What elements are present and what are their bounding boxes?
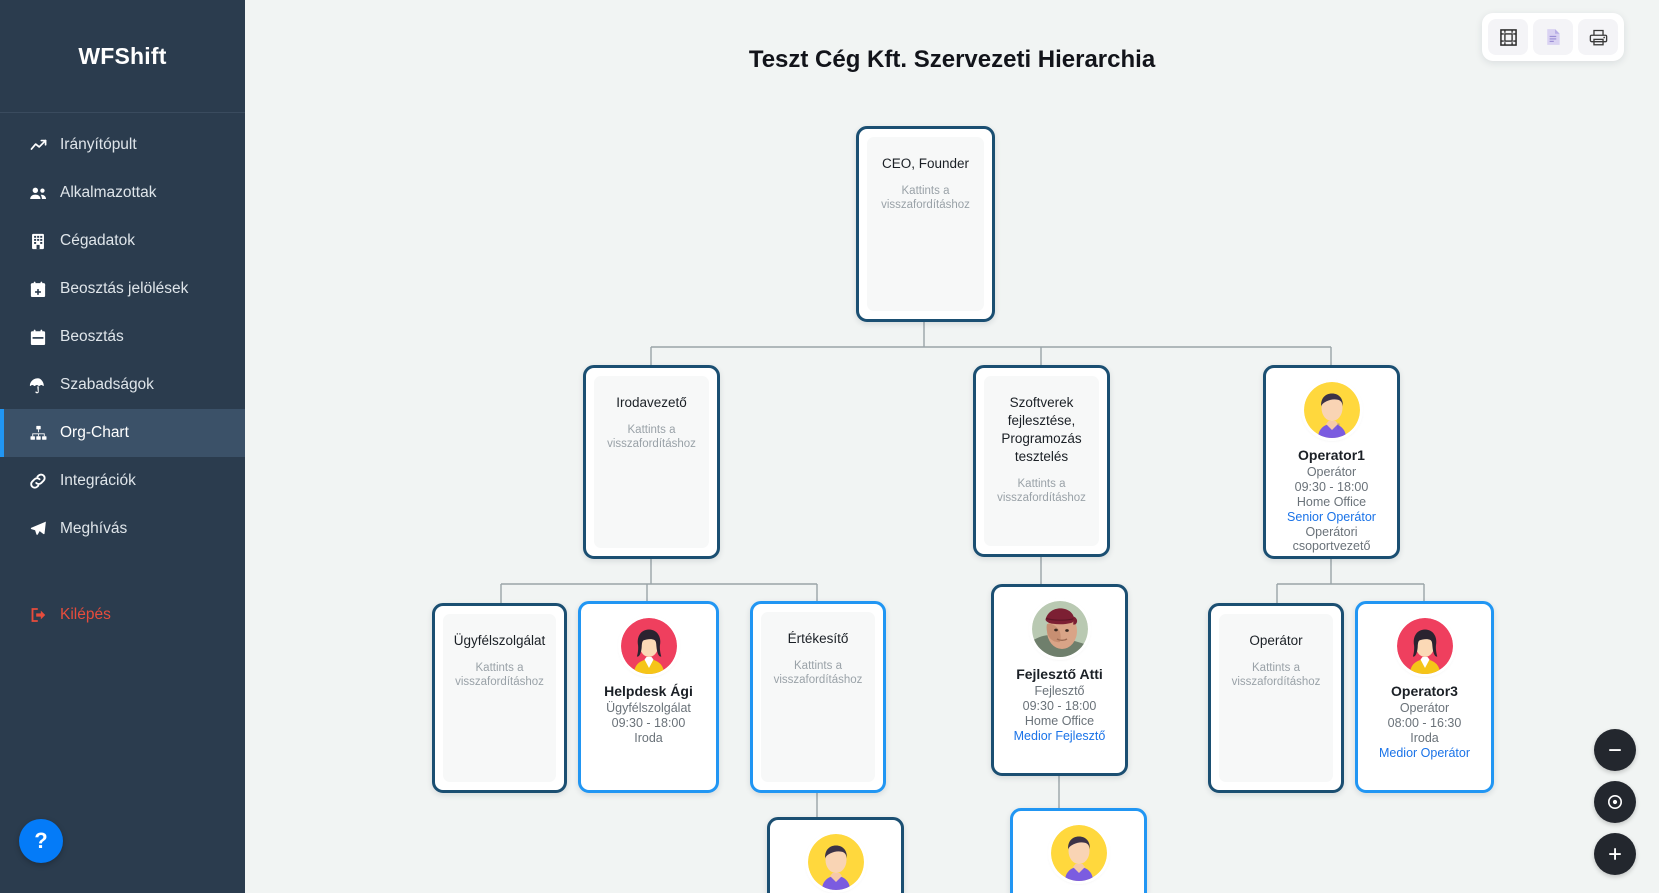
avatar (621, 618, 677, 674)
chart-line-icon (26, 137, 50, 154)
printer-icon (1589, 29, 1608, 46)
org-node-title: Ügyfélszolgálat (443, 632, 556, 650)
zoom-controls (1594, 729, 1636, 875)
org-node-operator1[interactable]: Operator1 Operátor 09:30 - 18:00 Home Of… (1263, 365, 1400, 559)
org-node-body: Értékesítő Kattints a visszafordításhoz (761, 612, 875, 782)
org-node-operator3[interactable]: Operator3 Operátor 08:00 - 16:30 Iroda M… (1355, 601, 1494, 793)
person-location: Home Office (994, 714, 1125, 728)
nav-divider-space (0, 553, 245, 591)
org-node-ceo[interactable]: CEO, Founder Kattints a visszafordításho… (856, 126, 995, 322)
sidebar-item-label: Org-Chart (60, 424, 129, 442)
sitemap-icon (26, 425, 50, 441)
org-node-body: Operátor Kattints a visszafordításhoz (1219, 614, 1333, 782)
org-node-hint: Kattints a visszafordításhoz (443, 661, 556, 689)
brand-logo: WFShift (0, 0, 245, 113)
sidebar-nav: Irányítópult Alkalmazottak Cégadatok Beo… (0, 113, 245, 639)
minus-icon (1606, 741, 1624, 759)
org-node-hint: Kattints a visszafordításhoz (761, 659, 875, 687)
chart-toolbar (1482, 13, 1624, 61)
sidebar-item-label: Cégadatok (60, 232, 135, 250)
org-node-body (1013, 811, 1144, 881)
link-icon (26, 473, 50, 489)
calendar-icon (26, 329, 50, 346)
avatar-male-yellow-icon (1304, 382, 1360, 438)
person-hours: 08:00 - 16:30 (1358, 716, 1491, 730)
avatar-female-pink-icon (1397, 618, 1453, 674)
org-node-body: Szoftverek fejlesztése, Programozás tesz… (984, 376, 1099, 546)
org-node-hint: Kattints a visszafordításhoz (984, 477, 1099, 505)
sidebar-item-holidays[interactable]: Szabadságok (0, 361, 245, 409)
org-chart-canvas[interactable]: Teszt Cég Kft. Szervezeti Hierarchia (245, 0, 1659, 893)
org-node-body: Fejlesztő Atti Fejlesztő 09:30 - 18:00 H… (994, 587, 1125, 743)
sidebar-item-label: Alkalmazottak (60, 184, 156, 202)
export-document-button[interactable] (1533, 19, 1573, 55)
sidebar: WFShift Irányítópult Alkalmazottak Cégad… (0, 0, 245, 893)
person-role: Fejlesztő (994, 684, 1125, 698)
person-hours: 09:30 - 18:00 (581, 716, 716, 730)
org-node-helpdesk-agi[interactable]: Helpdesk Ági Ügyfélszolgálat 09:30 - 18:… (578, 601, 719, 793)
org-node-body: Ügyfélszolgálat Kattints a visszafordítá… (443, 614, 556, 782)
org-node-irodavezeto[interactable]: Irodavezető Kattints a visszafordításhoz (583, 365, 720, 559)
avatar (1051, 825, 1107, 881)
avatar-male-yellow-icon (1051, 825, 1107, 881)
org-node-title: CEO, Founder (867, 155, 984, 173)
org-node-body: Operator1 Operátor 09:30 - 18:00 Home Of… (1266, 368, 1397, 553)
person-link[interactable]: Senior Operátor (1266, 510, 1397, 524)
fit-screen-icon (1500, 29, 1517, 46)
org-node-szoftverek[interactable]: Szoftverek fejlesztése, Programozás tesz… (973, 365, 1110, 557)
fit-screen-button[interactable] (1488, 19, 1528, 55)
org-node-hint: Kattints a visszafordításhoz (594, 423, 709, 451)
org-node-ugyfelszolgalat[interactable]: Ügyfélszolgálat Kattints a visszafordítá… (432, 603, 567, 793)
logout-label: Kilépés (60, 606, 111, 624)
org-node-title: Értékesítő (761, 630, 875, 648)
person-name: Helpdesk Ági (581, 683, 716, 699)
org-node-body: Helpdesk Ági Ügyfélszolgálat 09:30 - 18:… (581, 604, 716, 745)
person-location: Home Office (1266, 495, 1397, 509)
org-node-partial-right[interactable] (1010, 808, 1147, 893)
person-name: Operator3 (1358, 683, 1491, 699)
calendar-plus-icon (26, 281, 50, 298)
building-icon (26, 233, 50, 250)
org-node-partial-left[interactable] (767, 817, 904, 893)
users-icon (26, 185, 50, 202)
person-hours: 09:30 - 18:00 (1266, 480, 1397, 494)
avatar-male-yellow-icon (808, 834, 864, 890)
org-node-body: Operator3 Operátor 08:00 - 16:30 Iroda M… (1358, 604, 1491, 760)
person-role: Operátor (1266, 465, 1397, 479)
sign-out-icon (26, 607, 50, 623)
plus-icon (1606, 845, 1624, 863)
org-node-hint: Kattints a visszafordításhoz (867, 184, 984, 212)
sidebar-item-company-data[interactable]: Cégadatok (0, 217, 245, 265)
help-button[interactable]: ? (19, 819, 63, 863)
zoom-out-button[interactable] (1594, 729, 1636, 771)
org-chart-nodes: CEO, Founder Kattints a visszafordításho… (245, 0, 1659, 893)
person-location: Iroda (581, 731, 716, 745)
avatar (808, 834, 864, 890)
sidebar-item-dashboard[interactable]: Irányítópult (0, 121, 245, 169)
org-node-title: Irodavezető (594, 394, 709, 412)
sidebar-item-label: Szabadságok (60, 376, 154, 394)
org-node-operator-dept[interactable]: Operátor Kattints a visszafordításhoz (1208, 603, 1344, 793)
logout-button[interactable]: Kilépés (0, 591, 245, 639)
org-node-fejleszto-atti[interactable]: Fejlesztő Atti Fejlesztő 09:30 - 18:00 H… (991, 584, 1128, 776)
person-hours: 09:30 - 18:00 (994, 699, 1125, 713)
person-name: Operator1 (1266, 447, 1397, 463)
org-node-title: Szoftverek fejlesztése, Programozás tesz… (984, 394, 1099, 466)
umbrella-icon (26, 377, 50, 394)
person-link[interactable]: Medior Operátor (1358, 746, 1491, 760)
sidebar-item-label: Integrációk (60, 472, 136, 490)
avatar-photo-bandana-icon (1032, 601, 1088, 657)
person-name: Fejlesztő Atti (994, 666, 1125, 682)
avatar (1397, 618, 1453, 674)
org-node-body (770, 820, 901, 890)
target-icon (1606, 793, 1624, 811)
zoom-reset-button[interactable] (1594, 781, 1636, 823)
org-node-body: Irodavezető Kattints a visszafordításhoz (594, 376, 709, 548)
sidebar-item-employees[interactable]: Alkalmazottak (0, 169, 245, 217)
document-icon (1545, 28, 1562, 46)
avatar (1032, 601, 1088, 657)
sidebar-item-label: Irányítópult (60, 136, 137, 154)
sidebar-item-label: Beosztás jelölések (60, 280, 188, 298)
person-location: Iroda (1358, 731, 1491, 745)
sidebar-item-invitation[interactable]: Meghívás (0, 505, 245, 553)
org-node-ertekesito[interactable]: Értékesítő Kattints a visszafordításhoz (750, 601, 886, 793)
sidebar-item-shifts[interactable]: Beosztás (0, 313, 245, 361)
org-node-title: Operátor (1219, 632, 1333, 650)
person-extra: Operátori csoportvezető (1266, 525, 1397, 553)
person-link[interactable]: Medior Fejlesztő (994, 729, 1125, 743)
person-role: Operátor (1358, 701, 1491, 715)
sidebar-item-org-chart[interactable]: Org-Chart (0, 409, 245, 457)
avatar-female-pink-icon (621, 618, 677, 674)
zoom-in-button[interactable] (1594, 833, 1636, 875)
print-button[interactable] (1578, 19, 1618, 55)
sidebar-item-label: Meghívás (60, 520, 127, 538)
org-node-body: CEO, Founder Kattints a visszafordításho… (867, 137, 984, 311)
person-role: Ügyfélszolgálat (581, 701, 716, 715)
org-node-hint: Kattints a visszafordításhoz (1219, 661, 1333, 689)
avatar (1304, 382, 1360, 438)
app-root: WFShift Irányítópult Alkalmazottak Cégad… (0, 0, 1659, 893)
paper-plane-icon (26, 521, 50, 537)
sidebar-item-label: Beosztás (60, 328, 124, 346)
sidebar-item-shift-marks[interactable]: Beosztás jelölések (0, 265, 245, 313)
sidebar-item-integrations[interactable]: Integrációk (0, 457, 245, 505)
